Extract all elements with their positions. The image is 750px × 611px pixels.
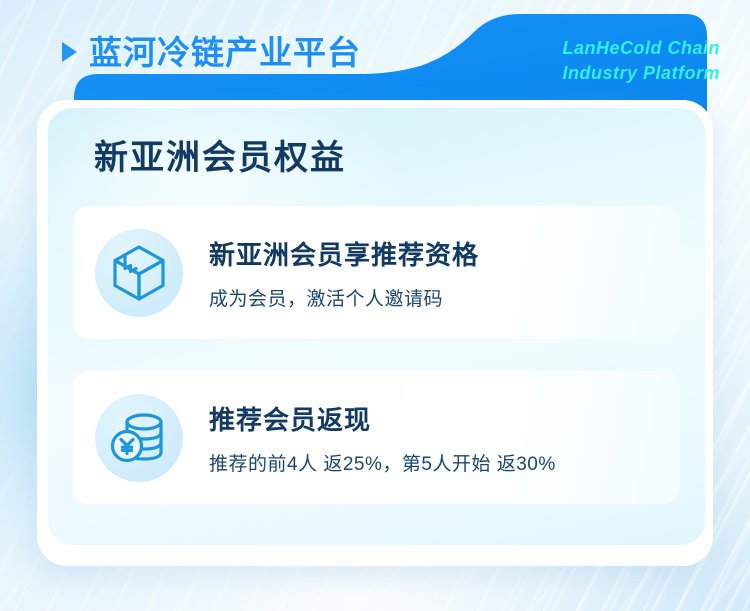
member-benefits-card: 新亚洲会员权益 bbox=[37, 100, 713, 566]
benefit-text-group: 新亚洲会员享推荐资格 成为会员，激活个人邀请码 bbox=[209, 235, 479, 311]
list-item[interactable]: 推荐会员返现 推荐的前4人 返25%，第5人开始 返30% bbox=[73, 371, 680, 504]
page-title: 新亚洲会员权益 bbox=[94, 130, 346, 179]
promo-banner-screen: 蓝河冷链产业平台 LanHeCold Chain Industry Platfo… bbox=[0, 0, 750, 611]
benefit-title: 新亚洲会员享推荐资格 bbox=[209, 235, 479, 272]
benefit-icon-background bbox=[95, 394, 183, 482]
benefit-list: 新亚洲会员享推荐资格 成为会员，激活个人邀请码 bbox=[73, 206, 680, 504]
benefit-subtitle: 成为会员，激活个人邀请码 bbox=[209, 284, 479, 311]
list-item[interactable]: 新亚洲会员享推荐资格 成为会员，激活个人邀请码 bbox=[73, 206, 680, 339]
benefit-title: 推荐会员返现 bbox=[209, 400, 556, 437]
benefit-text-group: 推荐会员返现 推荐的前4人 返25%，第5人开始 返30% bbox=[209, 400, 556, 476]
benefit-subtitle: 推荐的前4人 返25%，第5人开始 返30% bbox=[209, 449, 556, 476]
member-benefits-panel: 新亚洲会员权益 bbox=[48, 108, 705, 545]
coin-stack-yuan-icon bbox=[110, 410, 168, 466]
benefit-icon-background bbox=[95, 229, 183, 317]
package-box-icon bbox=[111, 244, 167, 302]
